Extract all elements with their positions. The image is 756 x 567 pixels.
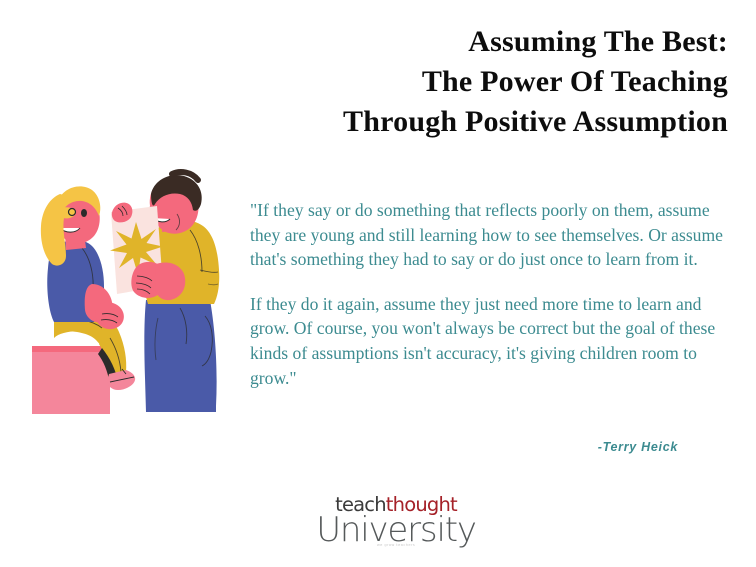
title-line-3: Through Positive Assumption (250, 102, 728, 142)
quote-text: "If they say or do something that reflec… (250, 198, 742, 390)
poster-canvas: Assuming The Best: The Power Of Teaching… (0, 0, 756, 567)
seat-box-top (32, 346, 110, 352)
girl-eye (81, 209, 87, 217)
quote-paragraph-1: "If they say or do something that reflec… (250, 198, 742, 272)
teachthought-university-logo[interactable]: teachthought University we grow teachers (310, 494, 482, 547)
page-title: Assuming The Best: The Power Of Teaching… (250, 22, 728, 142)
illustration-teacher-and-child (22, 168, 240, 416)
girl-hand (96, 302, 124, 329)
logo-university-text: University (310, 513, 482, 547)
title-line-2: The Power Of Teaching (250, 62, 728, 102)
title-line-1: Assuming The Best: (250, 22, 728, 62)
seat-box-front (32, 352, 110, 414)
attribution-author: -Terry Heick (330, 440, 678, 454)
quote-paragraph-2: If they do it again, assume they just ne… (250, 292, 742, 390)
hair-tie (69, 209, 76, 216)
